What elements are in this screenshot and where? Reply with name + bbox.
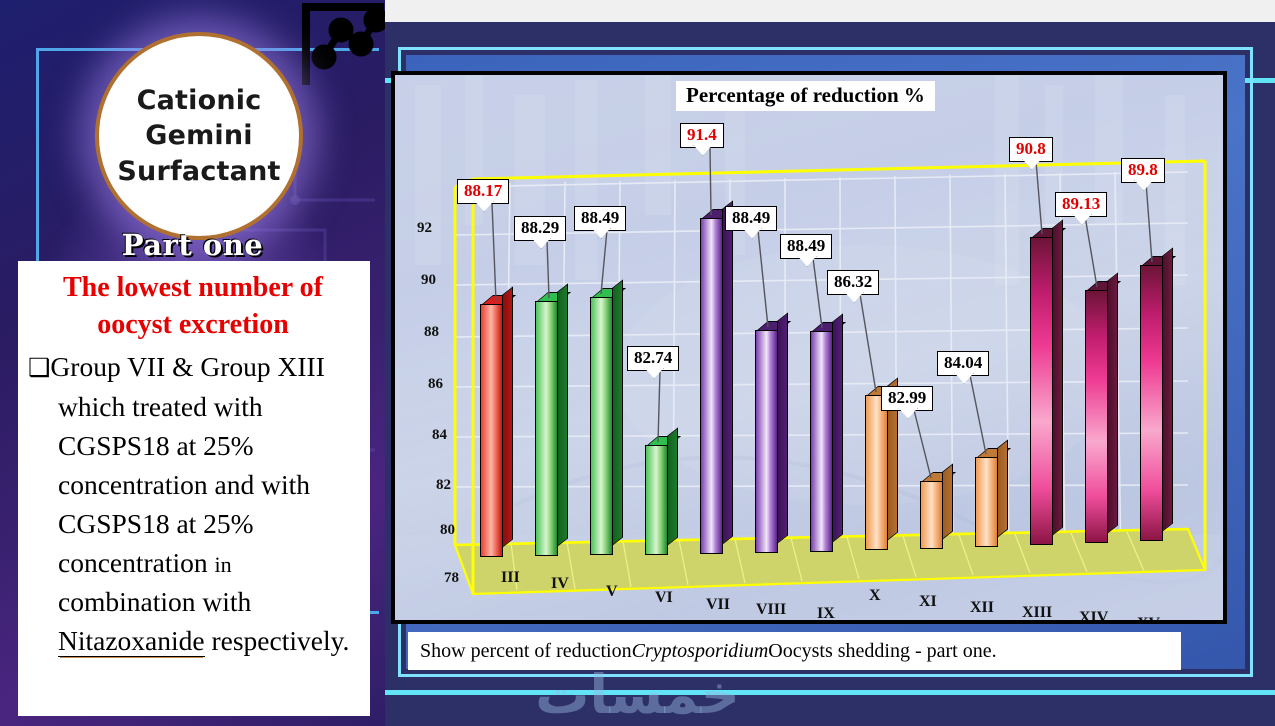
bar-side-XIV [1107, 272, 1118, 534]
bar-front-V [590, 297, 613, 555]
bar-side-XII [997, 439, 1008, 538]
bar-X[interactable] [865, 395, 888, 550]
value-label-XIV: 89.13 [1055, 192, 1107, 217]
x-label-V: V [606, 583, 618, 601]
caption-pre: Show percent of reduction [420, 640, 632, 663]
bar-III[interactable] [480, 304, 503, 557]
bullet-square-icon: ❑ [28, 355, 50, 382]
x-label-XIV: XIV [1079, 609, 1108, 624]
value-label-IV: 88.29 [514, 216, 566, 241]
x-label-IV: IV [551, 575, 569, 593]
caption-post: Oocysts shedding - part one. [768, 640, 996, 663]
summary-text-card: The lowest number of oocyst excretion ❑G… [18, 261, 370, 716]
cationic-gemini-surfactant-badge: Cationic Gemini Surfactant [95, 32, 303, 240]
badge-line-1: Cationic [137, 83, 262, 119]
bar-side-IV [557, 283, 568, 547]
chart-caption: Show percent of reduction Cryptosporidiu… [408, 632, 1181, 670]
x-label-III: III [501, 569, 520, 587]
x-label-XV: XV [1137, 615, 1160, 624]
bar-side-VIII [777, 312, 788, 544]
bar-front-XIII [1030, 237, 1053, 545]
bar-XIII[interactable] [1030, 237, 1053, 545]
bar-XIV[interactable] [1085, 290, 1108, 543]
card-body-part-1: Group VII & Group XIII which treated wit… [50, 351, 324, 578]
bar-side-XV [1162, 247, 1173, 532]
bar-V[interactable] [590, 297, 613, 555]
bar-IV[interactable] [535, 301, 558, 556]
card-body: ❑Group VII & Group XIII which treated wi… [28, 347, 358, 660]
value-label-XI: 82.99 [881, 386, 933, 411]
card-heading-line-2: oocyst excretion [28, 306, 358, 343]
value-label-III: 88.17 [457, 179, 509, 204]
y-tick-78: 78 [444, 570, 459, 587]
chart-plot-frame: 92 90 88 86 84 82 80 78 Percentage of re… [391, 71, 1227, 624]
bar-side-VII [722, 200, 733, 545]
bar-front-XV [1140, 265, 1163, 541]
bar-front-VI [645, 445, 668, 555]
bar-front-XI [920, 481, 943, 549]
x-label-IX: IX [817, 605, 835, 623]
x-label-VI: VI [655, 589, 673, 607]
y-tick-92: 92 [417, 220, 432, 237]
bar-VII[interactable] [700, 218, 723, 554]
value-label-XV: 89.8 [1121, 158, 1165, 183]
bar-front-III [480, 304, 503, 557]
value-label-XII: 84.04 [937, 351, 989, 376]
chart-title: Percentage of reduction % [676, 81, 935, 111]
bar-side-XI [942, 463, 953, 540]
value-label-X: 86.32 [827, 270, 879, 295]
value-label-V: 88.49 [574, 206, 626, 231]
card-body-part-2: combination with [58, 586, 251, 617]
bar-VI[interactable] [645, 445, 668, 555]
bar-XI[interactable] [920, 481, 943, 549]
y-tick-82: 82 [436, 477, 451, 494]
bar-side-XIII [1052, 219, 1063, 536]
y-tick-90: 90 [421, 272, 436, 289]
y-tick-86: 86 [428, 376, 443, 393]
bar-VIII[interactable] [755, 330, 778, 553]
bar-XII[interactable] [975, 457, 998, 547]
value-label-VIII: 88.49 [725, 206, 777, 231]
bar-front-IX [810, 331, 833, 552]
bar-front-VIII [755, 330, 778, 553]
bar-front-X [865, 395, 888, 550]
card-body-in: in [215, 552, 232, 577]
x-label-XIII: XIII [1022, 604, 1052, 622]
badge-line-3: Surfactant [117, 154, 280, 190]
network-graph-icon [298, 2, 385, 88]
bar-XV[interactable] [1140, 265, 1163, 541]
bar-front-XII [975, 457, 998, 547]
x-label-XI: XI [919, 593, 937, 611]
bar-side-VI [667, 427, 678, 546]
x-label-VIII: VIII [756, 601, 786, 619]
bar-side-V [612, 279, 623, 546]
bar-front-VII [700, 218, 723, 554]
badge-line-2: Gemini [145, 118, 253, 154]
x-label-XII: XII [970, 599, 994, 617]
bar-front-XIV [1085, 290, 1108, 543]
bar-chart-plot: 92 90 88 86 84 82 80 78 Percentage of re… [395, 75, 1223, 620]
part-one-label: Part one [0, 228, 385, 262]
card-body-drug: Nitazoxanide [58, 625, 205, 657]
y-tick-88: 88 [424, 324, 439, 341]
card-body-part-3: respectively. [205, 625, 350, 656]
bar-side-IX [832, 313, 843, 543]
value-label-VI: 82.74 [627, 346, 679, 371]
card-heading-line-1: The lowest number of [28, 269, 358, 306]
bar-IX[interactable] [810, 331, 833, 552]
value-label-VII: 91.4 [680, 123, 724, 148]
caption-species: Cryptosporidium [632, 640, 769, 663]
value-label-XIII: 90.8 [1009, 137, 1053, 162]
bar-side-III [502, 286, 513, 548]
x-label-VII: VII [706, 596, 730, 614]
x-label-X: X [869, 587, 881, 605]
bar-front-IV [535, 301, 558, 556]
y-tick-84: 84 [432, 427, 447, 444]
slide-canvas: Cationic Gemini Surfactant Part one The … [0, 0, 1275, 726]
chart-area: 92 90 88 86 84 82 80 78 Percentage of re… [398, 47, 1253, 677]
value-label-IX: 88.49 [780, 234, 832, 259]
y-tick-80: 80 [440, 522, 455, 539]
